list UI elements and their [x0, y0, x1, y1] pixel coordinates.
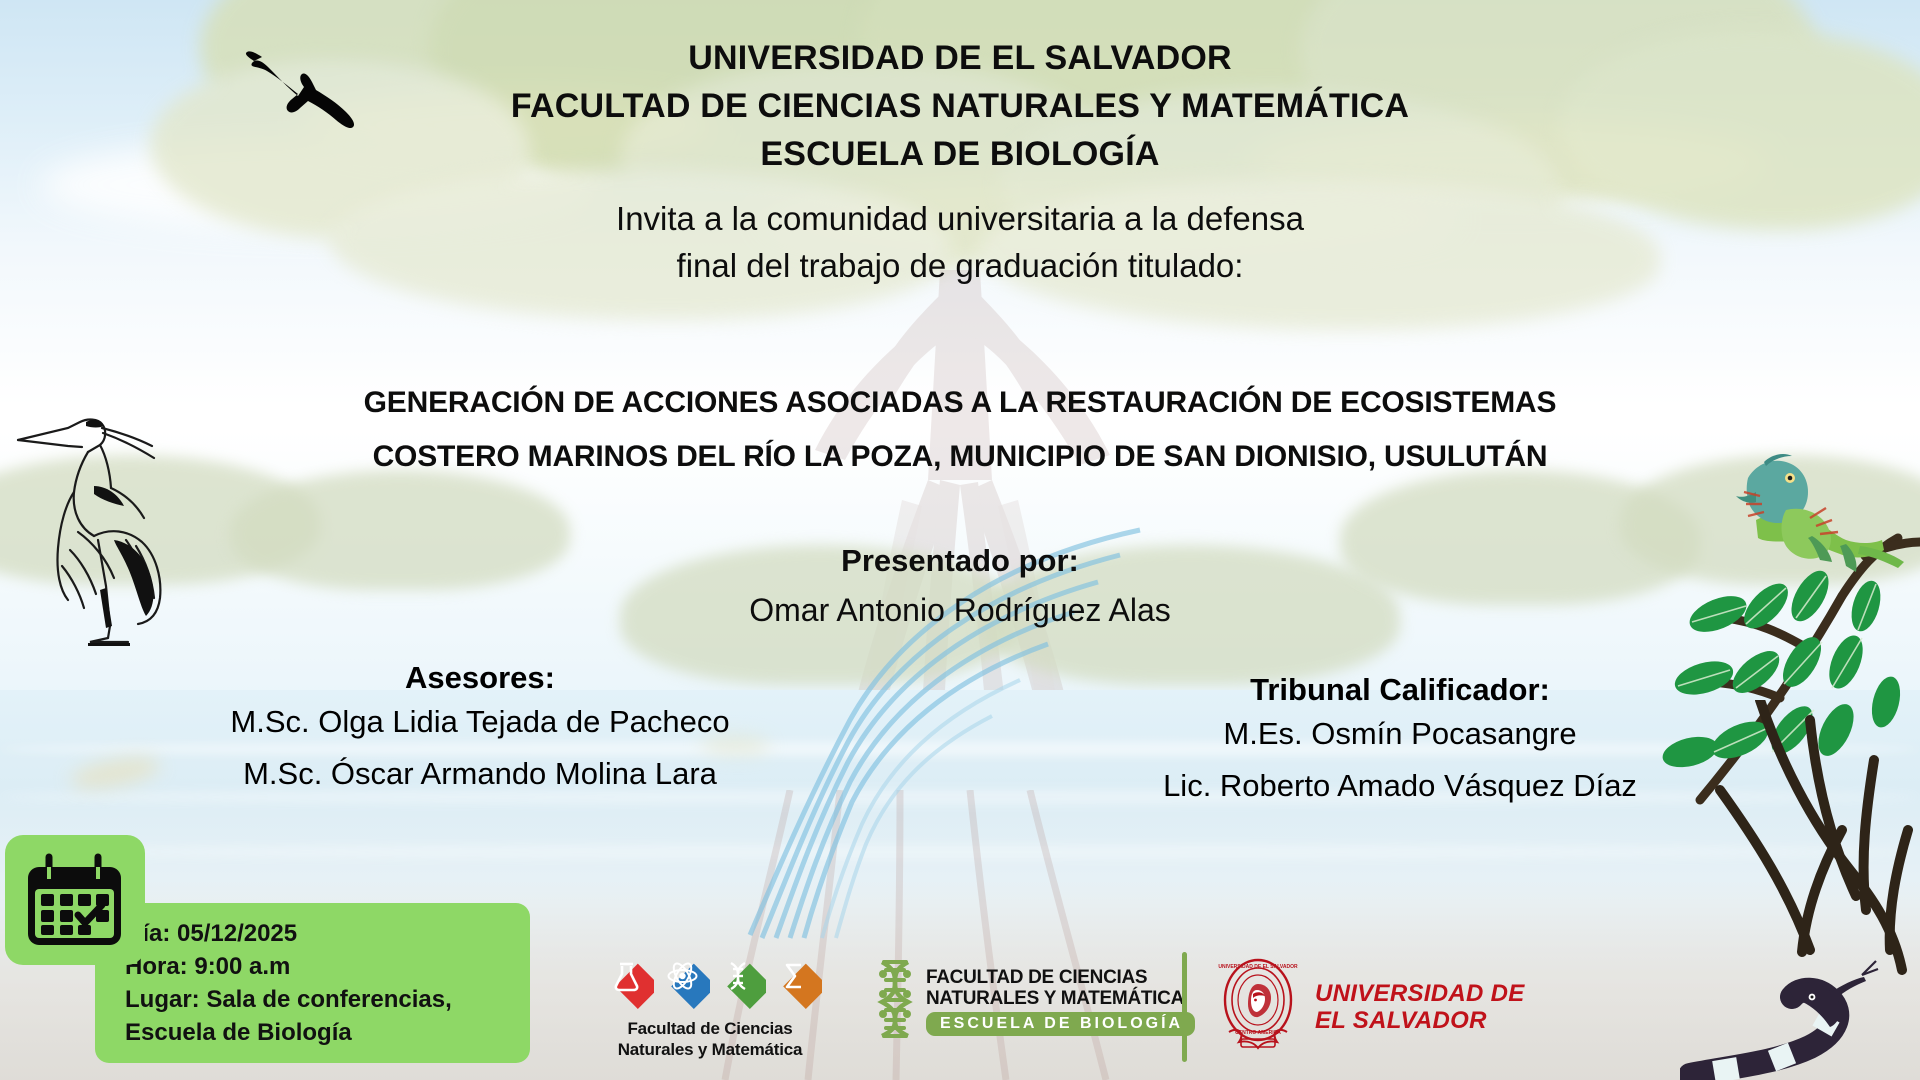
- poster-canvas: UNIVERSIDAD DE EL SALVADOR FACULTAD DE C…: [0, 0, 1920, 1080]
- sigma-icon: [767, 954, 822, 1014]
- invitation-line-1: Invita a la comunidad universitaria a la…: [0, 198, 1920, 240]
- tribunal-column: Tribunal Calificador: M.Es. Osmín Pocasa…: [1020, 672, 1780, 812]
- flask-icon: [599, 954, 654, 1014]
- sea-snake-icon: [1680, 935, 1920, 1080]
- footer-logos: Facultad de Ciencias Naturales y Matemát…: [590, 948, 1590, 1073]
- footer-divider: [1182, 952, 1187, 1062]
- atom-icon: [655, 954, 710, 1014]
- biology-logo-line-1: FACULTAD DE CIENCIAS: [926, 967, 1195, 988]
- university-name: UNIVERSIDAD DE EL SALVADOR: [0, 38, 1920, 78]
- advisor-name: M.Sc. Olga Lidia Tejada de Pacheco: [110, 696, 850, 748]
- presenter-name: Omar Antonio Rodríguez Alas: [0, 592, 1920, 629]
- invitation-line-2: final del trabajo de graduación titulado…: [0, 245, 1920, 287]
- thesis-title-line-1: GENERACIÓN DE ACCIONES ASOCIADAS A LA RE…: [0, 382, 1920, 424]
- dna-icon: [711, 954, 766, 1014]
- event-day: Día: 05/12/2025: [125, 917, 452, 950]
- ues-logo-line-2: EL SALVADOR: [1315, 1007, 1525, 1034]
- event-time: Hora: 9:00 a.m: [125, 950, 452, 983]
- school-name: ESCUELA DE BIOLOGÍA: [0, 134, 1920, 174]
- event-place-line-1: Lugar: Sala de conferencias,: [125, 983, 452, 1016]
- dna-helix-icon: [870, 958, 918, 1045]
- fcnm-caption-line-1: Facultad de Ciencias: [590, 1018, 830, 1039]
- presented-by-label: Presentado por:: [0, 543, 1920, 579]
- tribunal-member-name: Lic. Roberto Amado Vásquez Díaz: [1020, 760, 1780, 812]
- fcnm-caption-line-2: Naturales y Matemática: [590, 1039, 830, 1060]
- tribunal-label: Tribunal Calificador:: [1020, 672, 1780, 708]
- ues-logo-line-1: UNIVERSIDAD DE: [1315, 980, 1525, 1007]
- advisors-column: Asesores: M.Sc. Olga Lidia Tejada de Pac…: [110, 660, 850, 800]
- ues-logo: UNIVERSIDAD DE EL SALVADOR CENTRO AMÉRIC…: [1215, 954, 1525, 1059]
- advisors-label: Asesores:: [110, 660, 850, 696]
- thesis-title-line-2: COSTERO MARINOS DEL RÍO LA POZA, MUNICIP…: [0, 436, 1920, 478]
- tribunal-member-name: M.Es. Osmín Pocasangre: [1020, 708, 1780, 760]
- biology-school-logo: FACULTAD DE CIENCIAS NATURALES Y MATEMÁT…: [870, 958, 1195, 1045]
- event-info-box: Día: 05/12/2025 Hora: 9:00 a.m Lugar: Sa…: [95, 903, 530, 1063]
- fcnm-logo: Facultad de Ciencias Naturales y Matemát…: [590, 954, 830, 1060]
- svg-text:CENTRO AMÉRICA: CENTRO AMÉRICA: [1235, 1028, 1281, 1036]
- ues-seal-icon: UNIVERSIDAD DE EL SALVADOR CENTRO AMÉRIC…: [1215, 954, 1301, 1059]
- biology-logo-chip: ESCUELA DE BIOLOGÍA: [926, 1012, 1195, 1036]
- calendar-icon: [22, 853, 127, 953]
- advisor-name: M.Sc. Óscar Armando Molina Lara: [110, 748, 850, 800]
- svg-text:UNIVERSIDAD DE EL SALVADOR: UNIVERSIDAD DE EL SALVADOR: [1218, 964, 1298, 970]
- event-place-line-2: Escuela de Biología: [125, 1016, 452, 1049]
- biology-logo-line-2: NATURALES Y MATEMÁTICA: [926, 988, 1195, 1009]
- faculty-name: FACULTAD DE CIENCIAS NATURALES Y MATEMÁT…: [0, 86, 1920, 126]
